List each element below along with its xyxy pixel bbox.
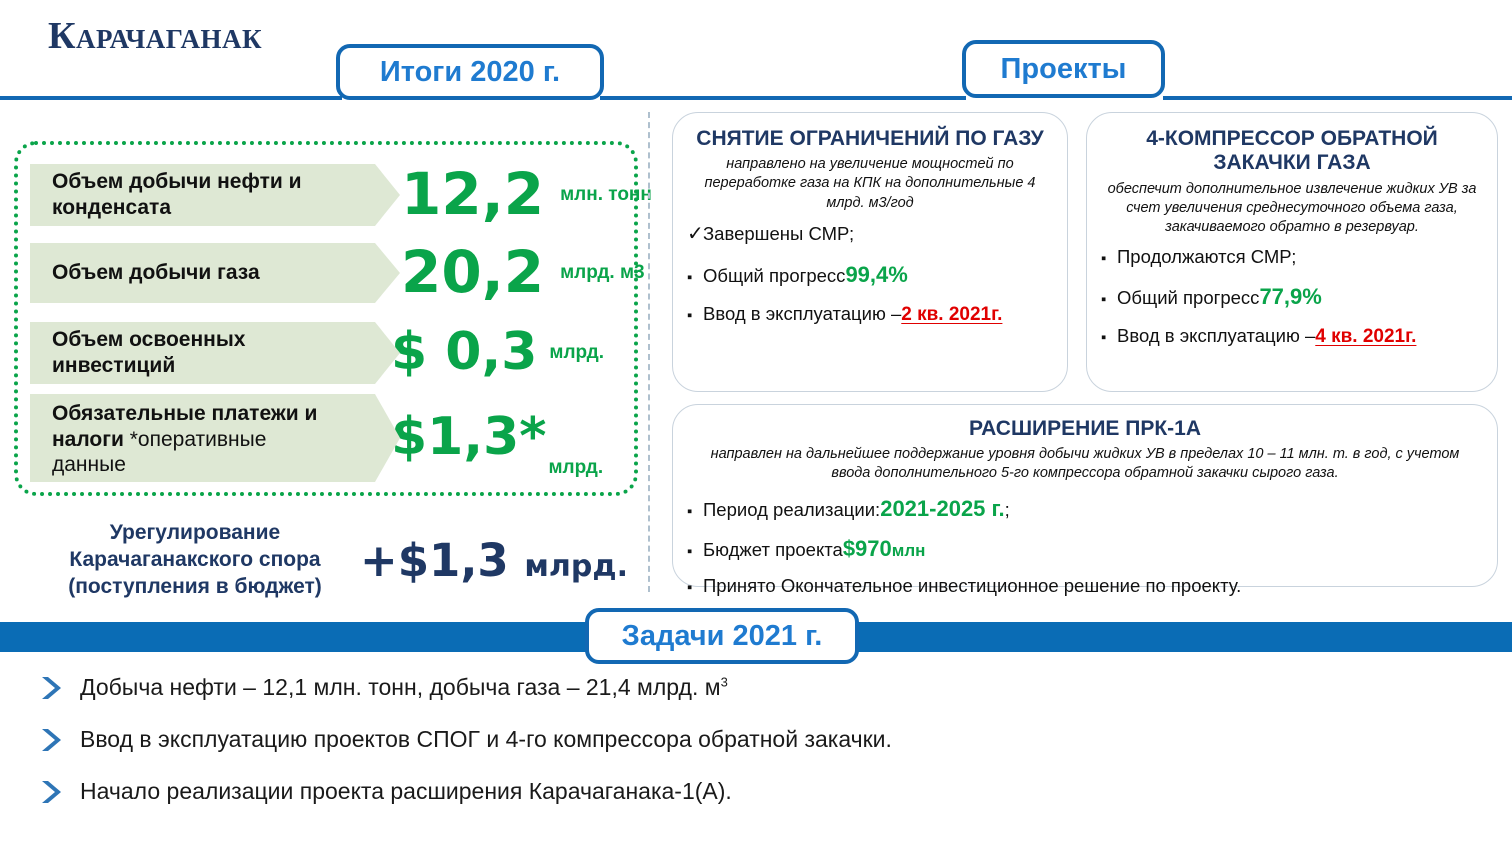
metric-label: Объем освоенных инвестиций xyxy=(52,327,341,378)
metric-unit: млрд. xyxy=(549,457,604,478)
metric-label-bar: Объем добычи нефти и конденсата xyxy=(30,164,375,226)
square-bullet-icon: ▪ xyxy=(687,577,703,600)
commissioning-date: 4 кв. 2021г. xyxy=(1315,323,1416,352)
list-item: ▪ Общий прогресс 99,4% xyxy=(687,258,1053,291)
list-item: ▪ Продолжаются СМР; xyxy=(1101,243,1483,271)
project-card-spog: СНЯТИЕ ОГРАНИЧЕНИЙ ПО ГАЗУ направлено на… xyxy=(672,112,1068,392)
chevron-right-icon xyxy=(38,779,68,805)
tab-results-2020[interactable]: Итоги 2020 г. xyxy=(336,44,604,100)
metric-row: Объем добычи газа 20,2 млрд. м3 xyxy=(30,243,645,303)
metric-label-bar: Обязательные платежи и налоги *оперативн… xyxy=(30,394,375,482)
metric-unit: млрд. м3 xyxy=(560,262,645,283)
task-item: Добыча нефти – 12,1 млн. тонн, добыча га… xyxy=(0,662,1512,714)
header-divider-middle xyxy=(600,96,966,100)
square-bullet-icon: ▪ xyxy=(1101,289,1117,312)
project-card-prk: РАСШИРЕНИЕ ПРК-1А направлен на дальнейше… xyxy=(672,404,1498,587)
bullet-text: Период реализации: xyxy=(703,496,880,524)
progress-value: 99,4% xyxy=(845,258,907,291)
bullet-text: Принято Окончательное инвестиционное реш… xyxy=(703,572,1241,600)
bullet-text: Продолжаются СМР; xyxy=(1117,243,1296,271)
bullet-text: Завершены СМР; xyxy=(703,220,854,248)
metric-label: Обязательные платежи и налоги *оперативн… xyxy=(52,401,341,478)
metric-unit: млрд. xyxy=(549,342,604,363)
metric-value: $1,3* xyxy=(391,413,547,462)
bullet-text: Бюджет проекта xyxy=(703,536,843,564)
tab-projects[interactable]: Проекты xyxy=(962,40,1165,98)
settlement-label: Урегулирование Карачаганакского спора (п… xyxy=(40,520,350,601)
metric-value: $ 0,3 xyxy=(391,328,537,377)
settlement-unit: млрд. xyxy=(524,549,628,584)
section-divider xyxy=(648,112,650,592)
task-text: Добыча нефти – 12,1 млн. тонн, добыча га… xyxy=(80,674,728,702)
task-item: Начало реализации проекта расширения Кар… xyxy=(0,766,1512,818)
task-item: Ввод в эксплуатацию проектов СПОГ и 4-го… xyxy=(0,714,1512,766)
metric-label: Объем добычи нефти и конденсата xyxy=(52,169,341,220)
square-bullet-icon: ▪ xyxy=(1101,248,1117,271)
metric-label: Объем добычи газа xyxy=(52,260,260,286)
project-description: направлено на увеличение мощностей по пе… xyxy=(693,155,1047,212)
period-value: 2021-2025 г. xyxy=(880,492,1004,525)
commissioning-date: 2 кв. 2021г. xyxy=(901,301,1002,330)
bullet-suffix: ; xyxy=(1005,496,1010,524)
square-bullet-icon: ▪ xyxy=(687,267,703,290)
project-bullets: ▪ Период реализации: 2021-2025 г.; ▪ Бюд… xyxy=(687,492,1483,600)
list-item: ▪ Бюджет проекта $970 млн xyxy=(687,532,1483,565)
chevron-right-icon xyxy=(38,727,68,753)
metric-label-bar: Объем добычи газа xyxy=(30,243,375,303)
settlement-value: +$1,3 млрд. xyxy=(360,534,628,587)
list-item: ▪ Ввод в эксплуатацию – 2 кв. 2021г. xyxy=(687,300,1053,330)
list-item: ▪ Ввод в эксплуатацию – 4 кв. 2021г. xyxy=(1101,322,1483,352)
list-item: ▪ Период реализации: 2021-2025 г.; xyxy=(687,492,1483,525)
bullet-text: Ввод в эксплуатацию – xyxy=(703,300,901,328)
progress-value: 77,9% xyxy=(1259,280,1321,313)
bullet-text: Ввод в эксплуатацию – xyxy=(1117,322,1315,350)
page-title: Карачаганак xyxy=(48,14,262,58)
list-item: ▪ Принято Окончательное инвестиционное р… xyxy=(687,572,1483,600)
task-text: Ввод в эксплуатацию проектов СПОГ и 4-го… xyxy=(80,726,892,754)
square-bullet-icon: ▪ xyxy=(687,501,703,524)
metric-value: 20,2 xyxy=(401,245,544,300)
check-icon: ✓ xyxy=(687,219,703,249)
bullet-text: Общий прогресс xyxy=(1117,284,1259,312)
tasks-list: Добыча нефти – 12,1 млн. тонн, добыча га… xyxy=(0,662,1512,818)
square-bullet-icon: ▪ xyxy=(687,305,703,328)
header-divider-right xyxy=(1163,96,1512,100)
project-title: РАСШИРЕНИЕ ПРК-1А xyxy=(687,417,1483,441)
metric-row: Объем освоенных инвестиций $ 0,3 млрд. xyxy=(30,322,604,384)
project-card-compressor: 4-КОМПРЕССОР ОБРАТНОЙ ЗАКАЧКИ ГАЗА обесп… xyxy=(1086,112,1498,392)
project-title: СНЯТИЕ ОГРАНИЧЕНИЙ ПО ГАЗУ xyxy=(687,127,1053,151)
square-bullet-icon: ▪ xyxy=(687,541,703,564)
chevron-right-icon xyxy=(38,675,68,701)
metric-label-bar: Объем освоенных инвестиций xyxy=(30,322,375,384)
metric-row: Обязательные платежи и налоги *оперативн… xyxy=(30,394,603,482)
project-description: обеспечит дополнительное извлечение жидк… xyxy=(1107,180,1477,237)
tab-tasks-2021[interactable]: Задачи 2021 г. xyxy=(585,608,859,664)
task-text: Начало реализации проекта расширения Кар… xyxy=(80,778,732,806)
metric-unit: млн. тонн xyxy=(560,184,652,205)
settlement-block: Урегулирование Карачаганакского спора (п… xyxy=(40,520,640,601)
list-item: ✓ Завершены СМР; xyxy=(687,219,1053,249)
budget-unit: млн xyxy=(892,538,926,564)
project-description: направлен на дальнейшее поддержание уров… xyxy=(699,445,1471,483)
budget-value: $970 xyxy=(843,532,892,565)
metric-value: 12,2 xyxy=(401,167,544,222)
project-bullets: ▪ Продолжаются СМР; ▪ Общий прогресс 77,… xyxy=(1101,243,1483,351)
list-item: ▪ Общий прогресс 77,9% xyxy=(1101,280,1483,313)
square-bullet-icon: ▪ xyxy=(1101,327,1117,350)
metric-row: Объем добычи нефти и конденсата 12,2 млн… xyxy=(30,164,652,226)
header-divider-left xyxy=(0,96,342,100)
bullet-text: Общий прогресс xyxy=(703,262,845,290)
project-bullets: ✓ Завершены СМР; ▪ Общий прогресс 99,4% … xyxy=(687,219,1053,330)
project-title: 4-КОМПРЕССОР ОБРАТНОЙ ЗАКАЧКИ ГАЗА xyxy=(1101,127,1483,176)
task-superscript: 3 xyxy=(721,675,728,690)
